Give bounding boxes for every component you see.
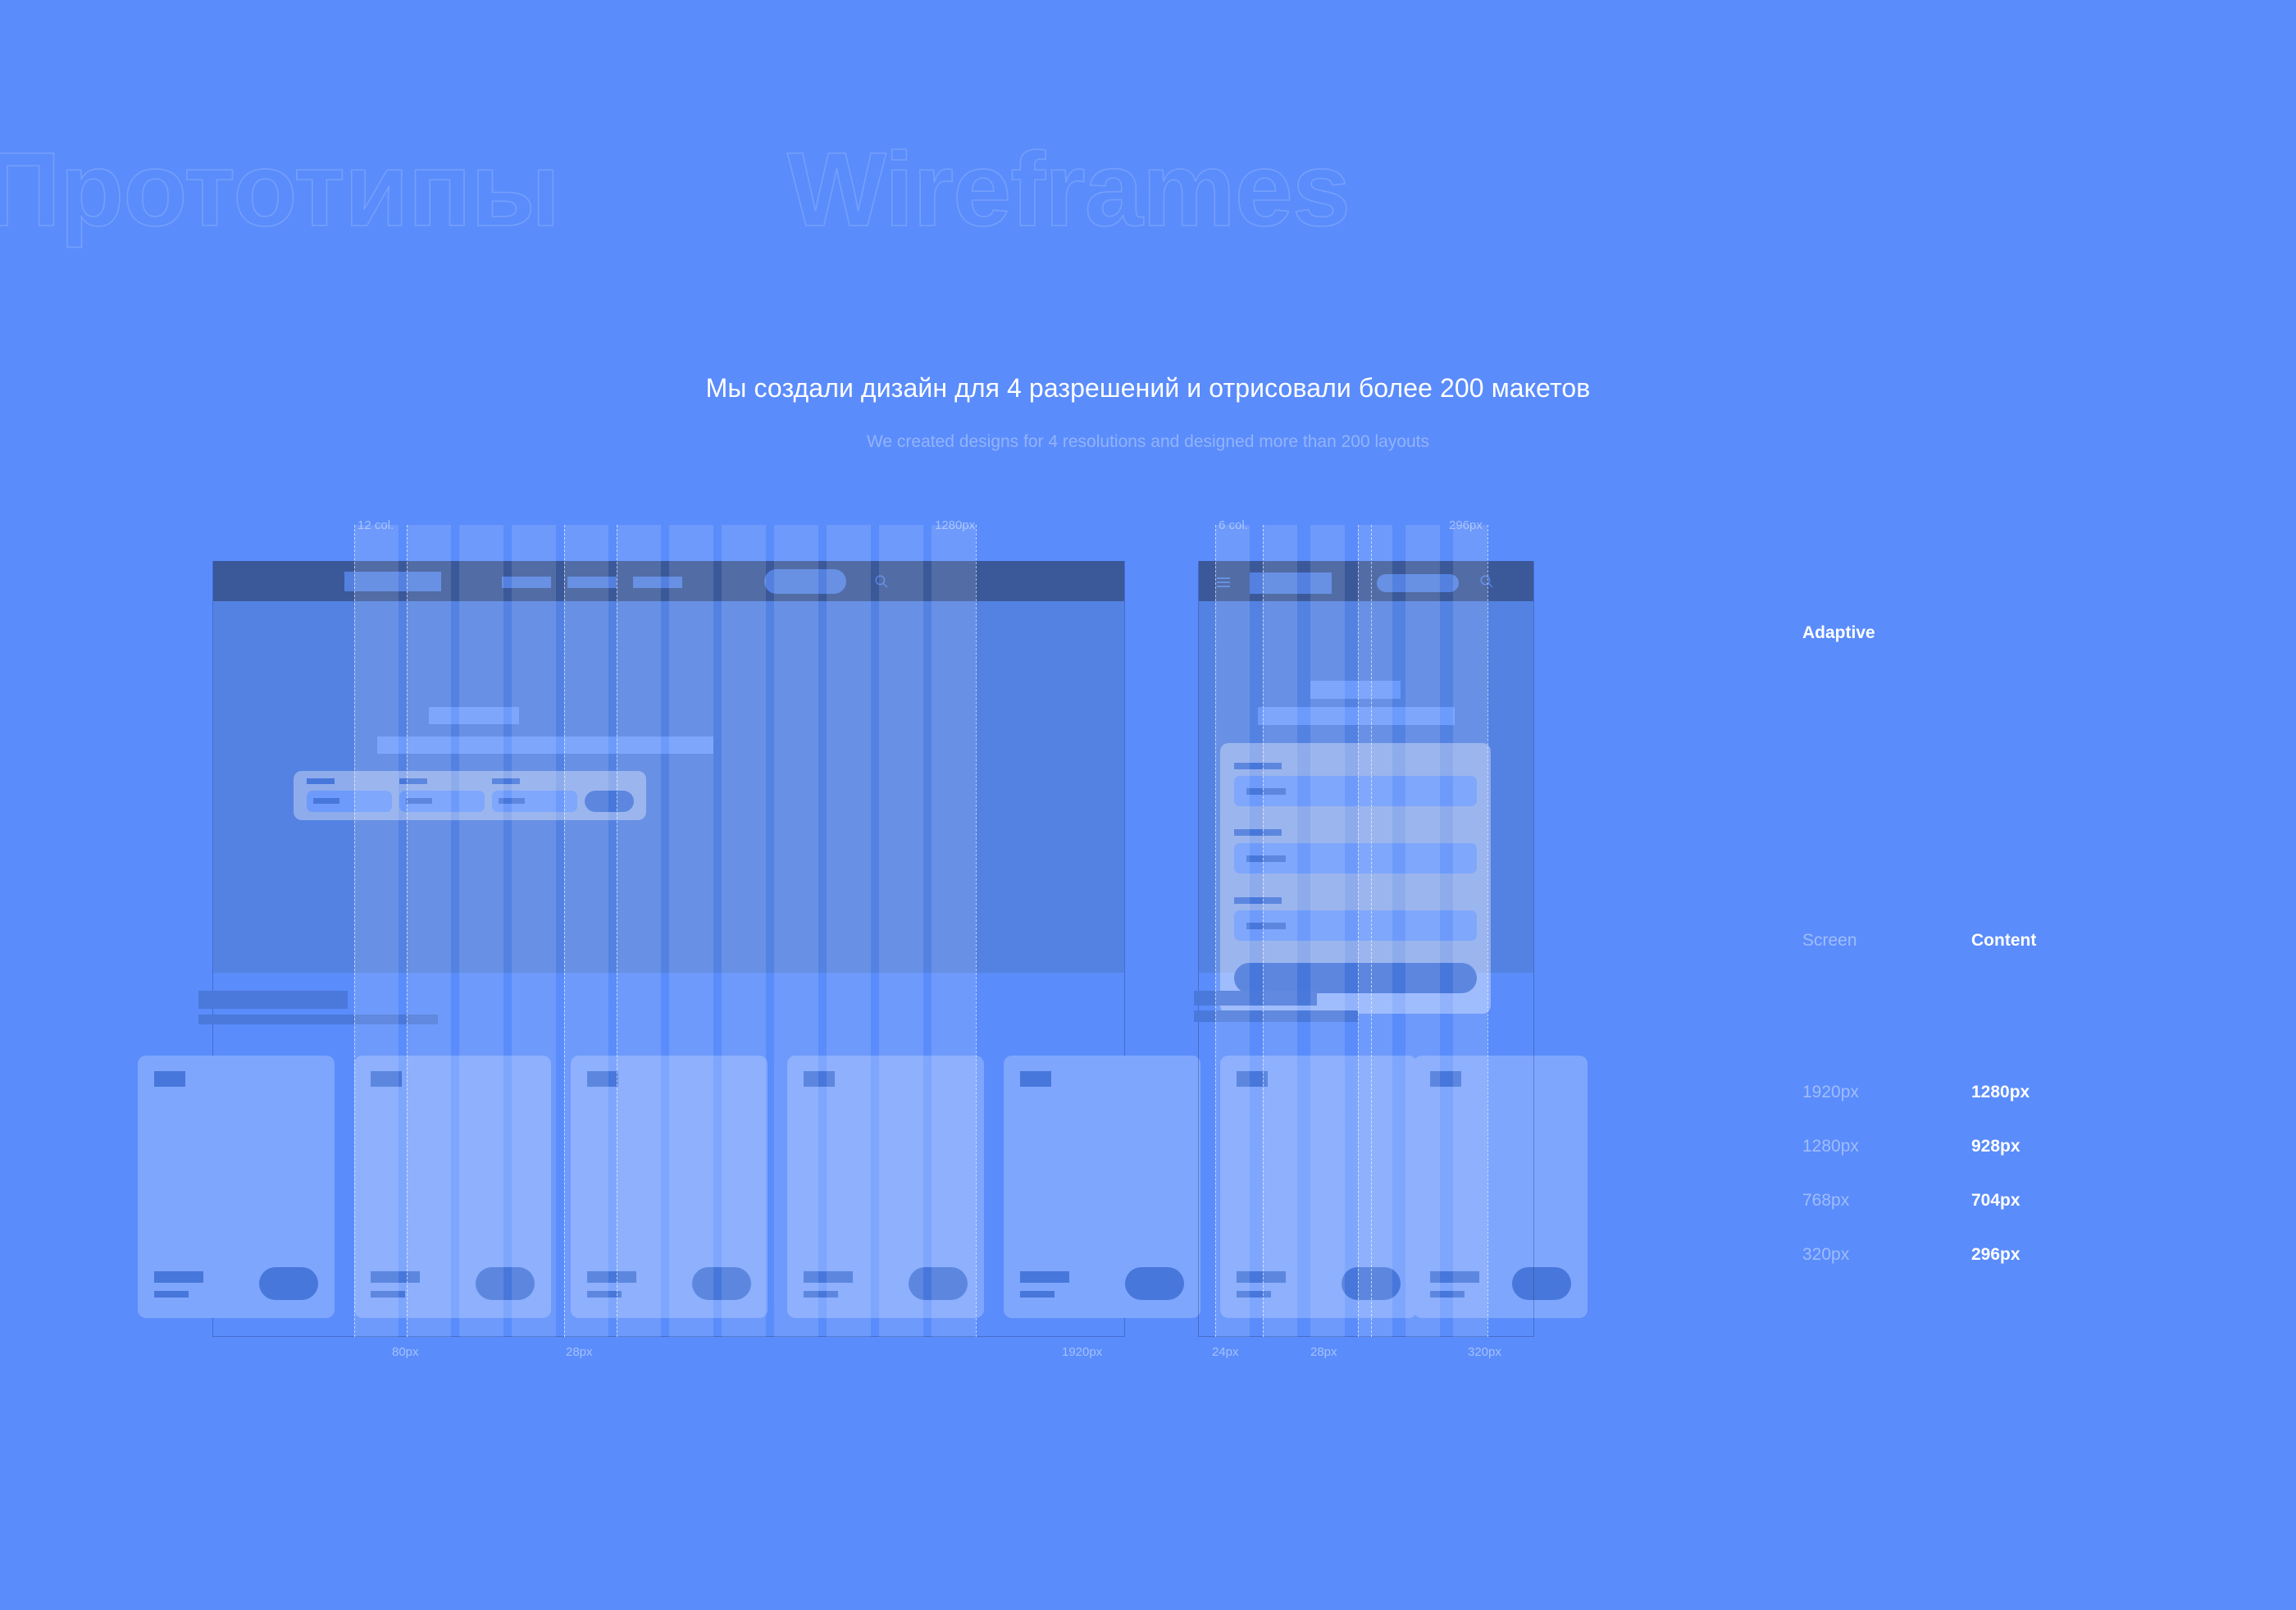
card-line-primary [154,1271,203,1283]
legend-row-screen: 768px [1802,1191,1849,1211]
desktop-cta-button[interactable] [764,569,846,594]
adaptive-legend: Adaptive Screen Content 1920px 1280px 12… [1802,623,2147,643]
card-3[interactable] [571,1056,768,1318]
card-4[interactable] [787,1056,984,1318]
desktop-form-value-1 [313,798,339,804]
mobile-hero-subtitle-bar [1258,707,1455,725]
legend-row-content: 704px [1971,1191,2020,1211]
desktop-grid-label-cols: 12 col. [358,518,394,532]
page-subtitle: We created designs for 4 resolutions and… [533,432,1763,452]
desktop-form-label-1 [307,778,335,784]
card-line-primary [1020,1271,1069,1283]
mobile-form-submit-button[interactable] [1234,963,1477,993]
card-tag [1020,1071,1051,1087]
mobile-form-label-2 [1234,829,1282,836]
legend-header-screen: Screen [1802,931,1857,951]
card-line-secondary [804,1291,838,1298]
search-icon[interactable] [874,574,889,589]
desktop-search-form-panel [294,771,646,820]
desktop-form-value-3 [499,798,525,804]
card-line-primary [587,1271,636,1283]
desktop-grid-label-screen: 1920px [1062,1345,1102,1359]
desktop-nav-item-1[interactable] [502,577,551,588]
desktop-hero-title-bar [429,707,519,724]
watermark-en: Wireframes [787,138,1350,243]
watermark-ru: Прототипы [0,138,559,243]
legend-title: Adaptive [1802,623,2147,643]
card-1[interactable] [138,1056,335,1318]
card-action-button[interactable] [259,1267,318,1300]
page-root: Прототипы Wireframes Мы создали дизайн д… [0,0,2296,1610]
desktop-logo-placeholder[interactable] [344,572,441,591]
desktop-grid-label-width: 1280px [935,518,975,532]
card-5[interactable] [1004,1056,1200,1318]
desktop-section-title-bar [198,991,348,1009]
card-action-button[interactable] [909,1267,968,1300]
desktop-form-label-3 [492,778,520,784]
desktop-grid-label-gutter: 28px [566,1345,593,1359]
mobile-wireframe-frame [1198,561,1534,1337]
card-tag [371,1071,402,1087]
desktop-grid-label-margin: 80px [392,1345,419,1359]
search-icon[interactable] [1479,574,1494,589]
legend-header-content: Content [1971,931,2036,951]
card-tag [804,1071,835,1087]
page-title: Мы создали дизайн для 4 разрешений и отр… [533,373,1763,404]
legend-row-content: 1280px [1971,1083,2029,1102]
card-tag [587,1071,618,1087]
card-action-button[interactable] [476,1267,535,1300]
mobile-grid-label-gutter: 28px [1310,1345,1337,1359]
mobile-logo-placeholder[interactable] [1250,572,1332,594]
card-line-secondary [587,1291,622,1298]
legend-row: 1920px 1280px [1802,1083,2147,1137]
legend-row: 1280px 928px [1802,1137,2147,1191]
mobile-cta-button[interactable] [1377,574,1459,592]
mobile-form-value-3 [1246,923,1286,929]
hamburger-menu-icon[interactable] [1217,577,1230,590]
card-action-button[interactable] [1125,1267,1184,1300]
legend-row-content: 928px [1971,1137,2020,1156]
desktop-navbar [213,561,1124,601]
mobile-navbar [1199,561,1533,601]
desktop-form-submit-button[interactable] [585,791,634,812]
desktop-form-label-2 [399,778,427,784]
mobile-grid-label-cols: 6 col. [1219,518,1248,532]
card-line-secondary [154,1291,189,1298]
desktop-section-subtitle-bar [198,1015,438,1024]
mobile-section-title-bar [1194,991,1317,1006]
legend-row: 320px 296px [1802,1245,2147,1299]
mobile-form-label-1 [1234,763,1282,769]
desktop-nav-item-2[interactable] [567,577,617,588]
card-line-primary [371,1271,420,1283]
card-2[interactable] [354,1056,551,1318]
desktop-hero-subtitle-bar [377,737,713,754]
mobile-grid-label-margin: 24px [1212,1345,1239,1359]
card-line-primary [804,1271,853,1283]
card-action-button[interactable] [692,1267,751,1300]
card-line-secondary [1020,1291,1055,1298]
desktop-form-value-2 [406,798,432,804]
mobile-section-subtitle-bar [1194,1010,1358,1022]
mobile-form-label-3 [1234,897,1282,904]
legend-row-screen: 1920px [1802,1083,1859,1102]
legend-row-content: 296px [1971,1245,2020,1265]
mobile-form-panel [1220,743,1491,1014]
card-line-secondary [371,1291,405,1298]
legend-row-screen: 1280px [1802,1137,1859,1156]
legend-row-screen: 320px [1802,1245,1849,1265]
card-tag [154,1071,185,1087]
mobile-grid-label-width: 296px [1449,518,1483,532]
legend-row: 768px 704px [1802,1191,2147,1245]
mobile-form-value-2 [1246,855,1286,862]
desktop-nav-item-3[interactable] [633,577,682,588]
mobile-grid-label-screen: 320px [1468,1345,1501,1359]
mobile-hero-title-bar [1310,681,1401,699]
mobile-form-value-1 [1246,788,1286,795]
